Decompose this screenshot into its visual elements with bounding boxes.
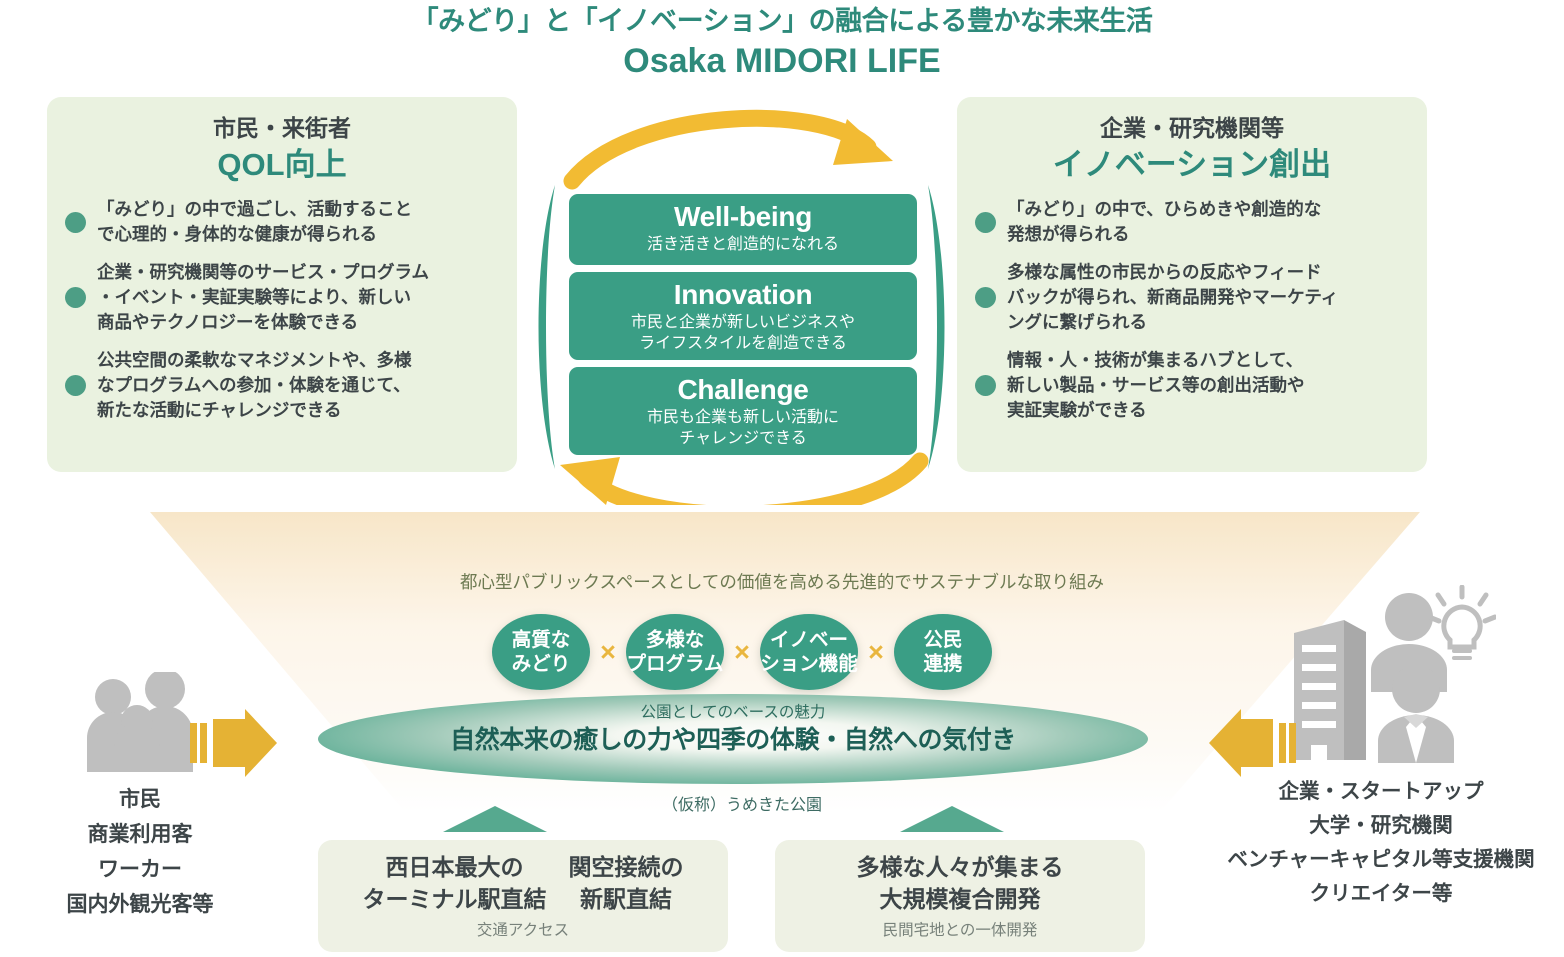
panel-qol: 市民・来街者 QOL向上 「みどり」の中で過ごし、活動することで心理的・身体的な… (47, 97, 517, 472)
pill-public-private-partnership: 公民連携 (894, 614, 992, 690)
cycle-card-innovation: Innovation 市民と企業が新しいビジネスやライフスタイルを創造できる (569, 272, 917, 360)
base-ellipse-headline: 自然本来の癒しの力や四季の体験・自然への気付き (318, 724, 1148, 756)
operator-times-icon: × (724, 637, 760, 668)
panel-qol-kicker: 市民・来街者 (47, 113, 517, 143)
operator-times-icon: × (590, 637, 626, 668)
panel-innovation-headline: イノベーション創出 (957, 145, 1427, 185)
cycle-card-desc: 市民も企業も新しい活動にチャレンジできる (569, 407, 917, 456)
pill-label: 高質なみどり (512, 628, 571, 676)
base-ellipse-text: 公園としてのベースの魅力 自然本来の癒しの力や四季の体験・自然への気付き (318, 702, 1148, 756)
list-item: 多様な属性の市民からの反応やフィードバックが得られ、新商品開発やマーケティングに… (975, 260, 1411, 335)
bullet-text: 多様な属性の市民からの反応やフィードバックが得られ、新商品開発やマーケティングに… (1007, 260, 1338, 335)
panel-innovation: 企業・研究機関等 イノベーション創出 「みどり」の中で、ひらめきや創造的な発想が… (957, 97, 1427, 472)
panel-innovation-header: 企業・研究機関等 イノベーション創出 (957, 97, 1427, 185)
actors-right-caption: 企業・スタートアップ大学・研究機関ベンチャーキャピタル等支援機関クリエイター等 (1198, 775, 1564, 911)
list-item: 公共空間の柔軟なマネジメントや、多様なプログラムへの参加・体験を通じて、新たな活… (65, 348, 501, 423)
page-title: 「みどり」と「イノベーション」の融合による豊かな未来生活 Osaka MIDOR… (0, 4, 1564, 82)
bullet-text: 情報・人・技術が集まるハブとして、新しい製品・サービス等の創出活動や実証実験がで… (1007, 348, 1305, 423)
center-cycle: Well-being 活き活きと創造的になれる Innovation 市民と企業… (520, 95, 980, 505)
panel-innovation-bullets: 「みどり」の中で、ひらめきや創造的な発想が得られる 多様な属性の市民からの反応や… (957, 197, 1427, 423)
base-ellipse-kicker: 公園としてのベースの魅力 (318, 702, 1148, 724)
pill-label: 多様なプログラム (627, 628, 724, 676)
bracket-right-icon (918, 183, 958, 471)
list-item: 「みどり」の中で、ひらめきや創造的な発想が得られる (975, 197, 1411, 247)
pill-label: イノベーション機能 (760, 628, 858, 676)
triangle-up-icon (443, 806, 547, 832)
triangle-up-icon (900, 806, 1004, 832)
cycle-card-desc: 市民と企業が新しいビジネスやライフスタイルを創造できる (569, 312, 917, 361)
cycle-card-challenge: Challenge 市民も企業も新しい活動にチャレンジできる (569, 367, 917, 455)
bottom-box-line: 西日本最大のターミナル駅直結 (363, 851, 547, 915)
bottom-box-development: 多様な人々が集まる大規模複合開発 民間宅地との一体開発 (775, 840, 1145, 952)
arrow-clockwise-top-icon (572, 118, 893, 181)
funnel-pills: 高質なみどり × 多様なプログラム × イノベーション機能 × 公民連携 (432, 612, 1052, 692)
bottom-box-line: 多様な人々が集まる大規模複合開発 (857, 851, 1064, 915)
bullet-text: 企業・研究機関等のサービス・プログラム・イベント・実証実験等により、新しい商品や… (97, 260, 429, 335)
infographic-canvas: 「みどり」と「イノベーション」の融合による豊かな未来生活 Osaka MIDOR… (0, 0, 1564, 957)
bullet-dot-icon (65, 375, 86, 396)
bullet-text: 「みどり」の中で、ひらめきや創造的な発想が得られる (1007, 197, 1321, 247)
actors-left-caption: 市民商業利用客ワーカー国内外観光客等 (0, 782, 280, 922)
operator-times-icon: × (858, 637, 894, 668)
bottom-box-development-note: 民間宅地との一体開発 (775, 920, 1145, 942)
arrow-counterclockwise-bottom-icon (560, 457, 920, 505)
bottom-box-transport: 西日本最大のターミナル駅直結関空接続の新駅直結 交通アクセス (318, 840, 728, 952)
cycle-card-desc: 活き活きと創造的になれる (569, 234, 917, 262)
title-sub-line: Osaka MIDORI LIFE (0, 40, 1564, 82)
pill-label: 公民連携 (923, 628, 962, 676)
bottom-box-transport-note: 交通アクセス (318, 920, 728, 942)
list-item: 情報・人・技術が集まるハブとして、新しい製品・サービス等の創出活動や実証実験がで… (975, 348, 1411, 423)
title-main-line: 「みどり」と「イノベーション」の融合による豊かな未来生活 (0, 4, 1564, 38)
bottom-box-transport-lines: 西日本最大のターミナル駅直結関空接続の新駅直結 (318, 840, 728, 915)
bullet-dot-icon (65, 287, 86, 308)
arrow-right-icon (183, 695, 279, 791)
cycle-card-title: Challenge (569, 373, 917, 407)
panel-qol-bullets: 「みどり」の中で過ごし、活動することで心理的・身体的な健康が得られる 企業・研究… (47, 197, 517, 423)
bracket-left-icon (525, 183, 565, 471)
list-item: 「みどり」の中で過ごし、活動することで心理的・身体的な健康が得られる (65, 197, 501, 247)
cycle-card-well-being: Well-being 活き活きと創造的になれる (569, 194, 917, 265)
cycle-card-title: Innovation (569, 278, 917, 312)
park-name-label: （仮称）うめきた公園 (532, 795, 952, 817)
panel-qol-headline: QOL向上 (47, 145, 517, 185)
panel-qol-header: 市民・来街者 QOL向上 (47, 97, 517, 185)
bullet-dot-icon (65, 212, 86, 233)
panel-innovation-kicker: 企業・研究機関等 (957, 113, 1427, 143)
pill-diverse-programs: 多様なプログラム (626, 614, 724, 690)
cycle-card-title: Well-being (569, 200, 917, 234)
pill-innovation-function: イノベーション機能 (760, 614, 858, 690)
bullet-text: 「みどり」の中で過ごし、活動することで心理的・身体的な健康が得られる (97, 197, 412, 247)
pill-high-quality-greenery: 高質なみどり (492, 614, 590, 690)
bottom-box-line: 関空接続の新駅直結 (569, 851, 684, 915)
bottom-box-development-lines: 多様な人々が集まる大規模複合開発 (775, 840, 1145, 915)
bullet-text: 公共空間の柔軟なマネジメントや、多様なプログラムへの参加・体験を通じて、新たな活… (97, 348, 411, 423)
list-item: 企業・研究機関等のサービス・プログラム・イベント・実証実験等により、新しい商品や… (65, 260, 501, 335)
arrow-left-icon (1207, 695, 1303, 791)
funnel-caption: 都心型パブリックスペースとしての価値を高める先進的でサステナブルな取り組み (232, 570, 1332, 594)
